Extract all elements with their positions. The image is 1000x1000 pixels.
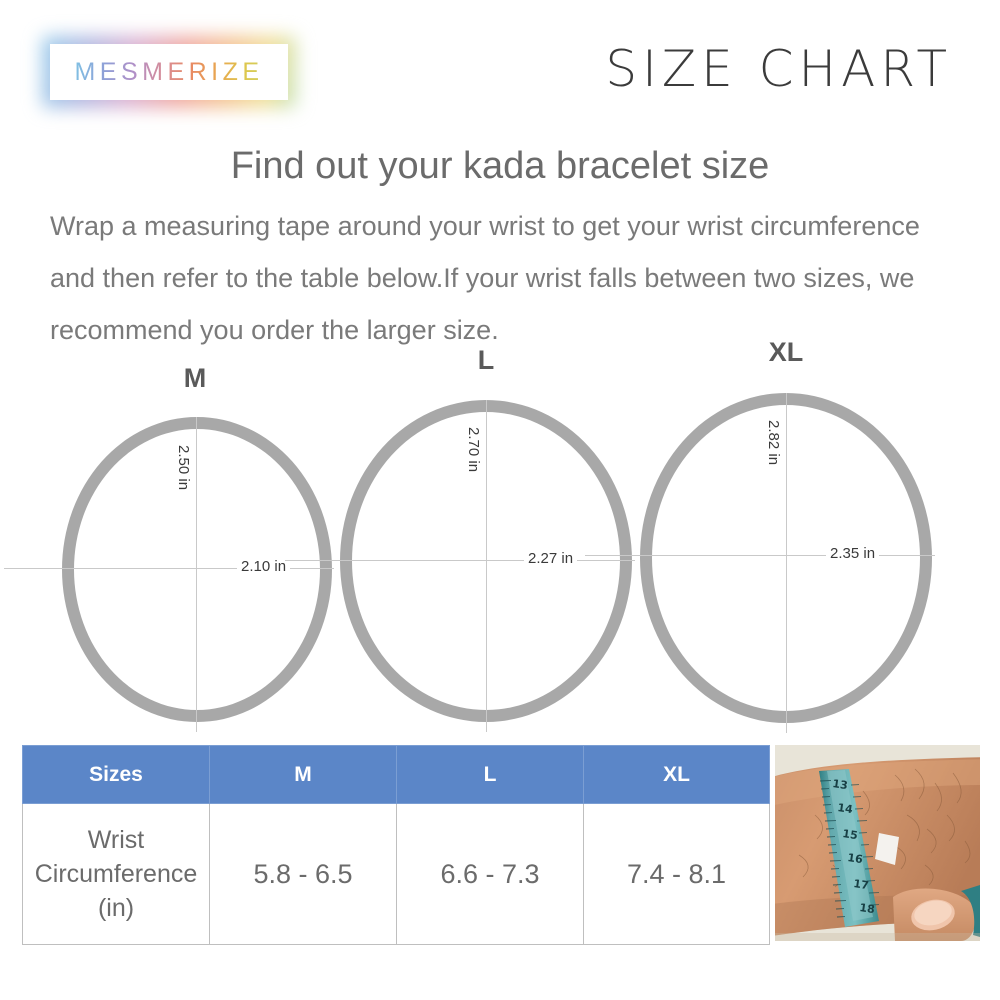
tape-mark-14: 14 <box>837 801 854 816</box>
intro-paragraph: Wrap a measuring tape around your wrist … <box>50 200 955 356</box>
row-label-line3: (in) <box>24 891 208 925</box>
oval-width-label-m: 2.10 in <box>237 558 290 575</box>
size-table: Sizes M L XL Wrist Circumference (in) 5.… <box>22 745 770 945</box>
oval-axis-vertical-xl <box>786 393 787 733</box>
table-cell-xl: 7.4 - 8.1 <box>584 804 770 945</box>
oval-diagram-m: M 2.50 in 2.10 in <box>62 355 332 745</box>
oval-width-label-xl: 2.35 in <box>826 545 879 562</box>
tape-mark-18: 18 <box>859 901 876 916</box>
oval-label-l: L <box>441 345 531 376</box>
tape-mark-17: 17 <box>853 877 870 892</box>
row-label-line2: Circumference <box>24 857 208 891</box>
oval-height-label-m: 2.50 in <box>175 443 192 492</box>
oval-diagram-l: L 2.70 in 2.27 in <box>340 355 632 745</box>
table-header-m: M <box>210 746 397 804</box>
oval-height-label-xl: 2.82 in <box>765 418 782 467</box>
table-cell-l: 6.6 - 7.3 <box>397 804 584 945</box>
table-header-xl: XL <box>584 746 770 804</box>
oval-axis-horizontal-xl <box>585 555 935 556</box>
wrist-measurement-photo: 13 14 15 16 17 18 <box>775 745 980 941</box>
oval-diagrams: M 2.50 in 2.10 in L 2.70 in 2.27 in XL 2… <box>0 355 1000 745</box>
table-row-label: Wrist Circumference (in) <box>23 804 210 945</box>
oval-axis-horizontal-l <box>285 560 635 561</box>
table-header-row: Sizes M L XL <box>23 746 770 804</box>
oval-axis-vertical-m <box>196 417 197 732</box>
headline: Find out your kada bracelet size <box>0 145 1000 188</box>
table-row: Wrist Circumference (in) 5.8 - 6.5 6.6 -… <box>23 804 770 945</box>
table-header-sizes: Sizes <box>23 746 210 804</box>
tape-mark-13: 13 <box>832 777 849 792</box>
oval-diagram-xl: XL 2.82 in 2.35 in <box>640 355 932 745</box>
oval-label-xl: XL <box>736 337 836 368</box>
tape-mark-16: 16 <box>847 851 864 866</box>
page-title: SIZE CHART <box>605 40 952 98</box>
oval-ring-m <box>62 417 332 722</box>
table-header-l: L <box>397 746 584 804</box>
logo-text: MESMERIZE <box>74 58 263 87</box>
brand-logo: MESMERIZE <box>50 44 288 100</box>
oval-axis-vertical-l <box>486 400 487 732</box>
oval-width-label-l: 2.27 in <box>524 550 577 567</box>
tape-mark-15: 15 <box>842 827 859 842</box>
oval-height-label-l: 2.70 in <box>465 425 482 474</box>
oval-label-m: M <box>150 363 240 394</box>
row-label-line1: Wrist <box>24 823 208 857</box>
table-cell-m: 5.8 - 6.5 <box>210 804 397 945</box>
logo-box: MESMERIZE <box>50 44 288 100</box>
wrist-photo-illustration: 13 14 15 16 17 18 <box>775 745 980 941</box>
